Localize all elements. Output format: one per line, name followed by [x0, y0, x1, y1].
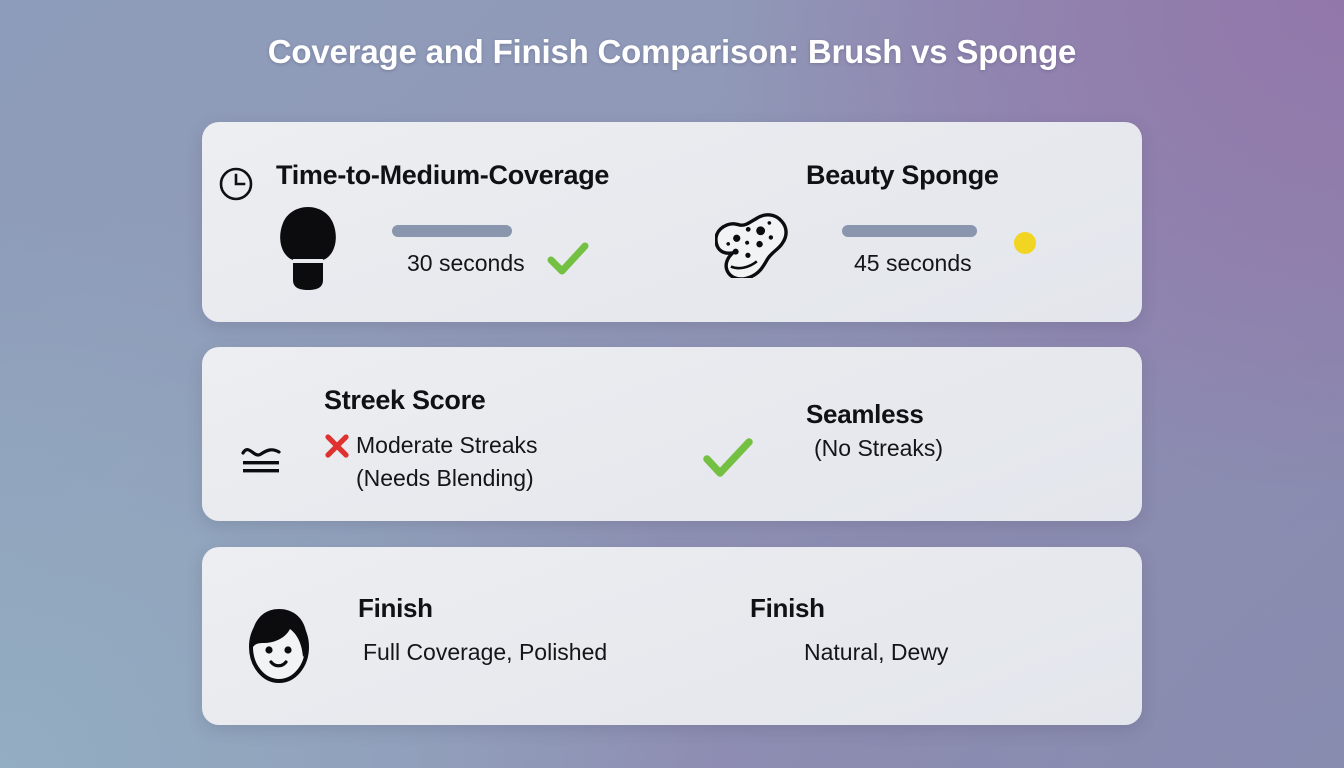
seamless-subtext: (No Streaks): [814, 435, 943, 462]
yellow-dot-icon: [1014, 232, 1036, 254]
page-title: Coverage and Finish Comparison: Brush vs…: [0, 33, 1344, 71]
coverage-progress-bar-sponge: [842, 225, 977, 237]
card-streek-score: Streek Score Moderate Streaks (Needs Ble…: [202, 347, 1142, 521]
finish-subtext-right: Natural, Dewy: [804, 639, 948, 666]
makeup-brush-icon: [273, 204, 343, 297]
wavy-lines-icon: [240, 442, 282, 483]
green-check-icon: [547, 242, 589, 281]
card-time-sponge-column: Beauty Sponge 4: [672, 122, 1142, 322]
card-time-brush-column: Time-to-Medium-Coverage 30 seconds: [202, 122, 672, 322]
streak-description-line2: (Needs Blending): [356, 462, 538, 495]
finish-heading-right: Finish: [750, 593, 825, 624]
card-streak-brush-column: Streek Score Moderate Streaks (Needs Ble…: [202, 347, 672, 521]
green-check-icon: [702, 437, 754, 484]
card-time-to-medium-coverage: Time-to-Medium-Coverage 30 seconds Beaut…: [202, 122, 1142, 322]
streak-description: Moderate Streaks (Needs Blending): [356, 429, 538, 495]
beauty-sponge-icon: [715, 204, 793, 283]
time-value-brush: 30 seconds: [407, 250, 525, 277]
card-streak-sponge-column: Seamless (No Streaks): [672, 347, 1142, 521]
card-streak-heading: Streek Score: [324, 385, 486, 416]
red-x-icon: [324, 433, 350, 464]
card-time-heading-right: Beauty Sponge: [806, 160, 999, 191]
coverage-progress-bar-brush: [392, 225, 512, 237]
streak-description-line1: Moderate Streaks: [356, 429, 538, 462]
clock-icon: [218, 166, 254, 207]
card-time-heading-left: Time-to-Medium-Coverage: [276, 160, 609, 191]
face-icon: [246, 605, 312, 690]
finish-heading-left: Finish: [358, 593, 433, 624]
card-finish: Finish Full Coverage, Polished Finish Na…: [202, 547, 1142, 725]
time-value-sponge: 45 seconds: [854, 250, 972, 277]
finish-subtext-left: Full Coverage, Polished: [363, 639, 607, 666]
card-finish-sponge-column: Finish Natural, Dewy: [672, 547, 1142, 725]
seamless-heading: Seamless: [806, 399, 924, 430]
card-finish-brush-column: Finish Full Coverage, Polished: [202, 547, 672, 725]
